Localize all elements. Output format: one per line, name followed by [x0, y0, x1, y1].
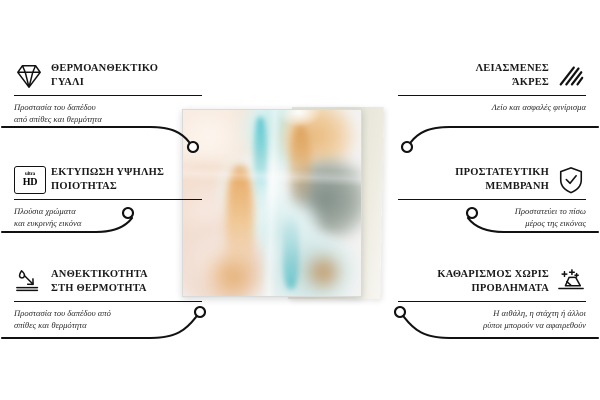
- title-line-2: ΓΥΑΛΙ: [51, 76, 158, 90]
- title-line-1: ΑΝΘΕΚΤΙΚΟΤΗΤΑ: [51, 268, 148, 282]
- title-line-1: ΠΡΟΣΤΑΤΕΥΤΙΚΗ: [455, 166, 549, 180]
- diamond-icon: [14, 62, 44, 90]
- title-line-2: ΣΤΗ ΘΕΡΜΟΤΗΤΑ: [51, 282, 148, 296]
- title-line-1: ΕΚΤΥΠΩΣΗ ΥΨΗΛΗΣ: [51, 166, 164, 180]
- feature-header: ultra HD ΕΚΤΥΠΩΣΗ ΥΨΗΛΗΣ ΠΟΙΟΤΗΤΑΣ: [14, 166, 202, 194]
- subtitle-line-1: Προστατεύει το πίσω: [398, 205, 586, 217]
- product-image: [180, 105, 400, 300]
- subtitle-line-1: Η αιθάλη, η στάχτη ή άλλοι: [398, 307, 586, 319]
- subtitle-line-2: σπίθες και θερμότητα: [14, 319, 202, 331]
- feature-title: ΚΑΘΑΡΙΣΜΟΣ ΧΩΡΙΣ ΠΡΟΒΛΗΜΑΤΑ: [437, 268, 549, 296]
- feature-header: ΛΕΙΑΣΜΕΝΕΣ ΆΚΡΕΣ: [398, 62, 586, 90]
- feature-subtitle: Η αιθάλη, η στάχτη ή άλλοι ρύποι μπορούν…: [398, 307, 586, 331]
- subtitle-line-2: από σπίθες και θερμότητα: [14, 113, 202, 125]
- feature-subtitle: Προστασία του δαπέδου από σπίθες και θερ…: [14, 101, 202, 125]
- title-line-2: ΆΚΡΕΣ: [476, 76, 549, 90]
- glass-glare: [276, 109, 322, 127]
- feature-polished-edges: ΛΕΙΑΣΜΕΝΕΣ ΆΚΡΕΣ Λείο και ασφαλές φινίρι…: [398, 62, 586, 113]
- subtitle-line-1: Λείο και ασφαλές φινίρισμα: [398, 101, 586, 113]
- title-line-2: ΠΡΟΒΛΗΜΑΤΑ: [437, 282, 549, 296]
- feature-subtitle: Προστατεύει το πίσω μέρος της εικόνας: [398, 205, 586, 229]
- feature-title: ΘΕΡΜΟΑΝΘΕΚΤΙΚΟ ΓΥΑΛΙ: [51, 62, 158, 90]
- feature-easy-cleaning: ΚΑΘΑΡΙΣΜΟΣ ΧΩΡΙΣ ΠΡΟΒΛΗΜΑΤΑ Η αιθάλη, η …: [398, 268, 586, 331]
- feature-title: ΕΚΤΥΠΩΣΗ ΥΨΗΛΗΣ ΠΟΙΟΤΗΤΑΣ: [51, 166, 164, 194]
- feature-high-quality-print: ultra HD ΕΚΤΥΠΩΣΗ ΥΨΗΛΗΣ ΠΟΙΟΤΗΤΑΣ Πλούσ…: [14, 166, 202, 229]
- divider: [14, 199, 202, 200]
- divider: [398, 301, 586, 302]
- sponge-sparkle-icon: [556, 268, 586, 296]
- feature-subtitle: Προστασία του δαπέδου από σπίθες και θερ…: [14, 307, 202, 331]
- glass-reflection: [183, 110, 361, 296]
- subtitle-line-2: και ευκρινής εικόνα: [14, 217, 202, 229]
- feature-header: ΠΡΟΣΤΑΤΕΥΤΙΚΗ ΜΕΜΒΡΑΝΗ: [398, 166, 586, 194]
- glass-splashback-panel: [182, 109, 362, 297]
- subtitle-line-1: Προστασία του δαπέδου: [14, 101, 202, 113]
- feature-heat-resistant-glass: ΘΕΡΜΟΑΝΘΕΚΤΙΚΟ ΓΥΑΛΙ Προστασία του δαπέδ…: [14, 62, 202, 125]
- subtitle-line-2: μέρος της εικόνας: [398, 217, 586, 229]
- feature-subtitle: Λείο και ασφαλές φινίρισμα: [398, 101, 586, 113]
- divider: [14, 301, 202, 302]
- ultra-hd-icon: ultra HD: [14, 166, 44, 194]
- title-line-1: ΛΕΙΑΣΜΕΝΕΣ: [476, 62, 549, 76]
- feature-subtitle: Πλούσια χρώματα και ευκρινής εικόνα: [14, 205, 202, 229]
- feature-header: ΑΝΘΕΚΤΙΚΟΤΗΤΑ ΣΤΗ ΘΕΡΜΟΤΗΤΑ: [14, 268, 202, 296]
- divider: [398, 199, 586, 200]
- feature-title: ΠΡΟΣΤΑΤΕΥΤΙΚΗ ΜΕΜΒΡΑΝΗ: [455, 166, 549, 194]
- feature-header: ΘΕΡΜΟΑΝΘΕΚΤΙΚΟ ΓΥΑΛΙ: [14, 62, 202, 90]
- feature-protective-membrane: ΠΡΟΣΤΑΤΕΥΤΙΚΗ ΜΕΜΒΡΑΝΗ Προστατεύει το πί…: [398, 166, 586, 229]
- subtitle-line-1: Πλούσια χρώματα: [14, 205, 202, 217]
- flame-deflect-icon: [14, 268, 44, 296]
- subtitle-line-1: Προστασία του δαπέδου από: [14, 307, 202, 319]
- hd-label: HD: [23, 178, 37, 188]
- feature-title: ΑΝΘΕΚΤΙΚΟΤΗΤΑ ΣΤΗ ΘΕΡΜΟΤΗΤΑ: [51, 268, 148, 296]
- title-line-2: ΠΟΙΟΤΗΤΑΣ: [51, 180, 164, 194]
- title-line-2: ΜΕΜΒΡΑΝΗ: [455, 180, 549, 194]
- feature-header: ΚΑΘΑΡΙΣΜΟΣ ΧΩΡΙΣ ΠΡΟΒΛΗΜΑΤΑ: [398, 268, 586, 296]
- infographic-stage: ΘΕΡΜΟΑΝΘΕΚΤΙΚΟ ΓΥΑΛΙ Προστασία του δαπέδ…: [0, 0, 600, 400]
- title-line-1: ΘΕΡΜΟΑΝΘΕΚΤΙΚΟ: [51, 62, 158, 76]
- subtitle-line-2: ρύποι μπορούν να αφαιρεθούν: [398, 319, 586, 331]
- shield-check-icon: [556, 166, 586, 194]
- feature-heat-durability: ΑΝΘΕΚΤΙΚΟΤΗΤΑ ΣΤΗ ΘΕΡΜΟΤΗΤΑ Προστασία το…: [14, 268, 202, 331]
- title-line-1: ΚΑΘΑΡΙΣΜΟΣ ΧΩΡΙΣ: [437, 268, 549, 282]
- feature-title: ΛΕΙΑΣΜΕΝΕΣ ΆΚΡΕΣ: [476, 62, 549, 90]
- divider: [14, 95, 202, 96]
- striped-triangle-icon: [556, 62, 586, 90]
- divider: [398, 95, 586, 96]
